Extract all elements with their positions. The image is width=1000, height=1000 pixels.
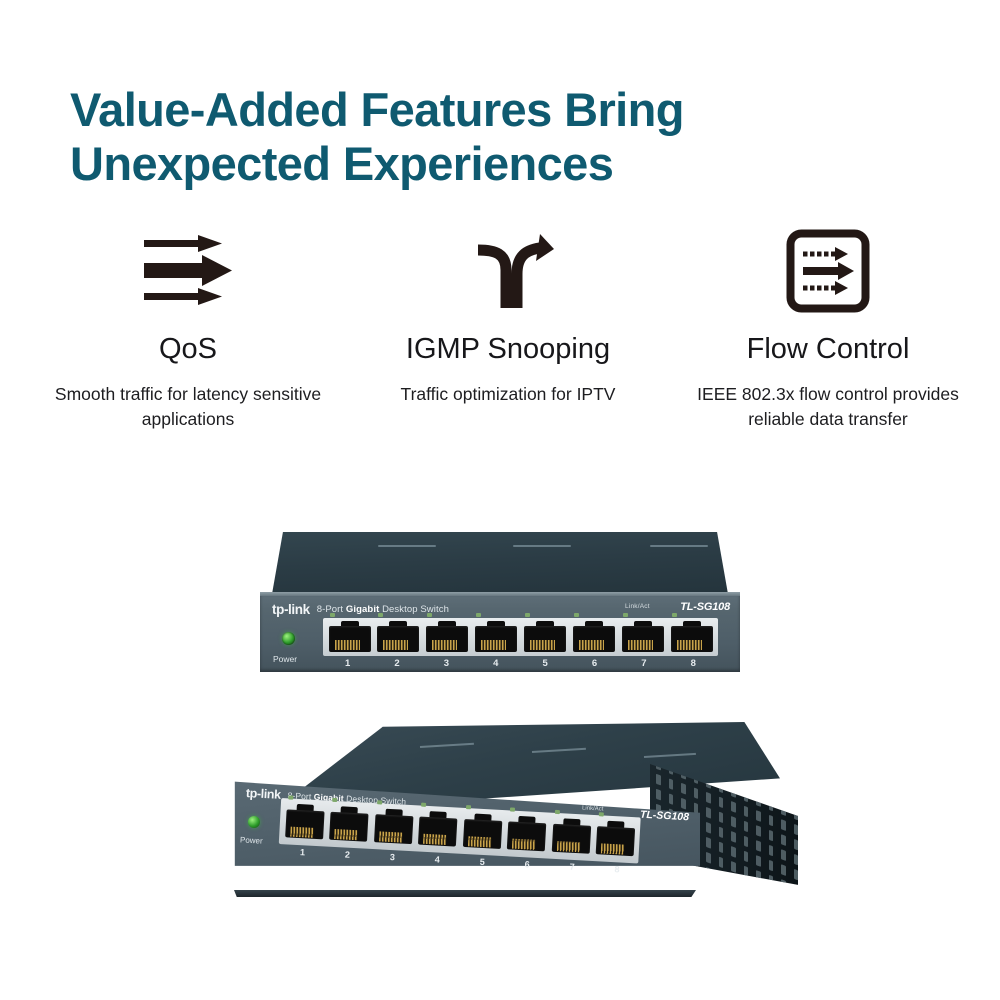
chassis-bottom-edge (234, 890, 696, 897)
rj45-port-bank (323, 618, 718, 656)
port-led (378, 613, 383, 617)
port-pins (481, 640, 506, 650)
port-led (465, 805, 470, 809)
port-number: 5 (521, 658, 570, 670)
tplink-logo: tp-link (272, 602, 310, 617)
port-pins (677, 640, 702, 650)
port-number: 7 (619, 658, 668, 670)
model-label: TL-SG108 (640, 809, 690, 824)
feature-title: IGMP Snooping (406, 334, 610, 366)
rj45-port (423, 620, 471, 654)
port-number-row: 1 2 3 4 5 6 7 8 (323, 658, 718, 670)
desc-bold: Gigabit (346, 604, 379, 615)
rj45-port (374, 620, 422, 654)
port-led (332, 798, 337, 802)
port-number: 6 (570, 658, 619, 670)
link-act-label: Link/Act (625, 603, 650, 610)
port-led (574, 613, 579, 617)
feature-item-igmp-snooping: IGMP Snooping Traffic optimization for I… (348, 228, 668, 407)
port-pins (530, 640, 555, 650)
port-number: 8 (669, 658, 718, 670)
power-led (282, 632, 295, 645)
port-number: 5 (459, 856, 505, 870)
desc-suffix: Desktop Switch (379, 604, 449, 615)
port-led (554, 810, 559, 814)
port-pins (601, 843, 625, 854)
feature-list: QoS Smooth traffic for latency sensitive… (28, 228, 988, 432)
port-number: 2 (372, 658, 421, 670)
rj45-port (281, 802, 326, 842)
port-pins (379, 831, 403, 842)
feature-item-flow-control: Flow Control IEEE 802.3x flow control pr… (668, 228, 988, 432)
chassis-top-seam (650, 545, 708, 547)
feature-description: Smooth traffic for latency sensitive app… (38, 382, 338, 432)
port-pins (432, 640, 457, 650)
port-pins (628, 640, 653, 650)
page-title-line-1: Value-Added Features Bring (70, 83, 930, 136)
page-title-line-2: Unexpected Experiences (70, 137, 930, 190)
rj45-port (326, 620, 374, 654)
port-pins (512, 839, 536, 850)
branching-arrow-icon (460, 228, 556, 314)
port-led (476, 613, 481, 617)
port-led (510, 807, 515, 811)
model-label: TL-SG108 (680, 601, 730, 613)
feature-title: Flow Control (747, 334, 910, 366)
brand-row: tp-link 8-Port Gigabit Desktop Switch (272, 602, 730, 617)
product-image-stage: tp-link 8-Port Gigabit Desktop Switch Li… (0, 500, 1000, 1000)
rj45-port (521, 620, 569, 654)
power-led (248, 816, 260, 828)
port-number: 4 (471, 658, 520, 670)
port-number: 3 (422, 658, 471, 670)
product-feature-page: Value-Added Features Bring Unexpected Ex… (0, 0, 1000, 1000)
rj45-port (326, 805, 371, 845)
rj45-port (504, 814, 549, 854)
port-pins (383, 640, 408, 650)
feature-item-qos: QoS Smooth traffic for latency sensitive… (28, 228, 348, 432)
port-led (623, 613, 628, 617)
rj45-port (668, 620, 716, 654)
port-number: 1 (280, 846, 326, 860)
port-led (599, 812, 604, 816)
power-label: Power (273, 654, 297, 664)
power-label: Power (240, 835, 263, 845)
port-pins (335, 640, 360, 650)
port-led (421, 803, 426, 807)
chassis-top-seam (378, 545, 436, 547)
flow-control-box-icon (786, 228, 870, 314)
port-pins (290, 827, 314, 838)
three-arrows-icon (142, 228, 234, 314)
rj45-port (570, 620, 618, 654)
rj45-port (459, 812, 504, 852)
port-number: 6 (504, 858, 550, 872)
rj45-port (619, 620, 667, 654)
page-title: Value-Added Features Bring Unexpected Ex… (70, 83, 930, 189)
feature-description: Traffic optimization for IPTV (401, 382, 616, 407)
port-number: 3 (370, 851, 416, 865)
chassis-top-seam (513, 545, 571, 547)
rj45-port (415, 809, 460, 849)
port-number: 2 (325, 848, 371, 862)
port-pins (423, 834, 447, 845)
port-led (377, 800, 382, 804)
port-pins (334, 829, 358, 840)
chassis-top-surface (272, 532, 728, 594)
port-number: 1 (323, 658, 372, 670)
tplink-logo: tp-link (246, 786, 281, 802)
rj45-port (593, 819, 638, 859)
port-led (288, 795, 293, 799)
port-led (672, 613, 677, 617)
port-led (427, 613, 432, 617)
rj45-port (472, 620, 520, 654)
port-number: 8 (594, 863, 640, 877)
feature-description: IEEE 802.3x flow control provides reliab… (678, 382, 978, 432)
chassis-front-face: tp-link 8-Port Gigabit Desktop Switch Li… (260, 596, 740, 672)
port-number: 4 (414, 853, 460, 867)
port-number: 7 (549, 861, 595, 875)
product-photo-perspective-view: tp-link 8-Port Gigabit Desktop Switch Li… (232, 722, 792, 912)
port-led (330, 613, 335, 617)
port-pins (556, 841, 580, 852)
port-pins (579, 640, 604, 650)
feature-title: QoS (159, 334, 217, 366)
rj45-port (370, 807, 415, 847)
product-photo-front-view: tp-link 8-Port Gigabit Desktop Switch Li… (258, 532, 742, 674)
port-pins (467, 836, 491, 847)
rj45-port (548, 817, 593, 857)
port-led (525, 613, 530, 617)
